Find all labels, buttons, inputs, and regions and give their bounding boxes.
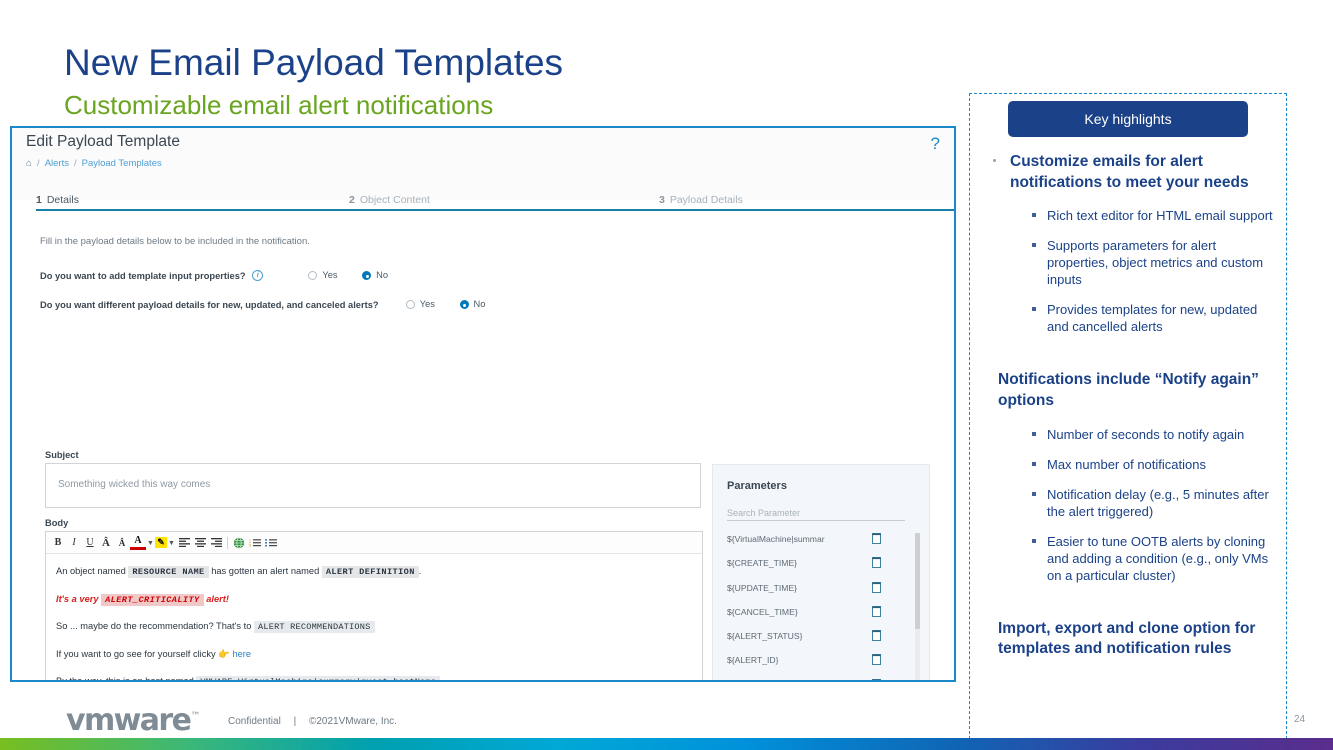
body-link-here[interactable]: here (232, 649, 251, 659)
parameter-row[interactable]: ${CANCEL_TIME} (713, 604, 929, 628)
wizard-step-details[interactable]: 1Details (36, 194, 79, 206)
breadcrumb-item-alerts[interactable]: Alerts (45, 158, 69, 169)
footer-divider: | (284, 716, 307, 727)
footer-confidential: Confidential (228, 716, 281, 727)
copy-icon[interactable] (872, 677, 881, 682)
parameter-row[interactable]: ${VirtualMachine|summar (713, 531, 929, 555)
copy-icon[interactable] (872, 555, 881, 573)
parameter-name: ${CREATE_TIME} (727, 558, 797, 568)
body-line-1-period: . (419, 566, 422, 576)
body-line-4-text-a: If you want to go see for yourself click… (56, 649, 216, 659)
parameter-row[interactable]: ${ALERT_DEFINITION} (713, 677, 929, 682)
body-line-2-text-a: It's a very (56, 594, 99, 604)
subject-input-value: Something wicked this way comes (58, 479, 210, 490)
decrease-font-size-icon[interactable]: Â (114, 534, 130, 551)
help-icon[interactable]: ? (931, 134, 940, 154)
radio-yes-1[interactable] (308, 271, 317, 280)
highlight-item-level-2: Easier to tune OOTB alerts by cloning an… (980, 533, 1280, 584)
body-editor[interactable]: B I U Â Â A ▼ ✎ ▼ (45, 531, 703, 682)
footer-copyright: ©2021VMware, Inc. (309, 716, 397, 727)
body-line-2-text-b: alert! (206, 594, 229, 604)
body-line-4: If you want to go see for yourself click… (56, 650, 692, 659)
ordered-list-icon[interactable]: 123 (247, 534, 263, 551)
question-different-payload-details: Do you want different payload details fo… (40, 299, 507, 310)
page-number: 24 (1294, 714, 1305, 725)
body-token-host-name: VMWARE VirtualMachine|summary|guest host… (196, 676, 440, 682)
parameter-name: ${CANCEL_TIME} (727, 607, 798, 617)
parameter-name: ${UPDATE_TIME} (727, 583, 797, 593)
unordered-list-icon[interactable] (263, 534, 279, 551)
breadcrumb-separator-2: / (74, 158, 77, 169)
question-1-option-no[interactable]: No (362, 270, 388, 280)
vmware-logo-text: vmware (66, 703, 190, 738)
vmware-logo: vmware™ (66, 703, 200, 738)
highlight-item-level-2: Supports parameters for alert properties… (980, 237, 1280, 288)
highlight-spacer (980, 597, 1280, 619)
question-2-label: Do you want different payload details fo… (40, 300, 379, 310)
body-token-resource-name: RESOURCE NAME (128, 566, 208, 578)
wizard-steps-divider (36, 209, 954, 211)
parameter-row[interactable]: ${CREATE_TIME} (713, 555, 929, 579)
radio-no-2[interactable] (460, 300, 469, 309)
body-line-2: It's a very ALERT_CRITICALITY alert! (56, 595, 692, 605)
key-highlights-list: Customize emails for alert notifications… (980, 152, 1280, 674)
app-header: Edit Payload Template ⌂ / Alerts / Paylo… (12, 128, 954, 200)
breadcrumb-separator-1: / (37, 158, 40, 169)
radio-no-1[interactable] (362, 271, 371, 280)
copy-icon[interactable] (872, 531, 881, 549)
underline-icon[interactable]: U (82, 534, 98, 551)
question-2-option-no[interactable]: No (460, 299, 486, 309)
question-1-option-yes[interactable]: Yes (308, 270, 337, 280)
wizard-step-payload-details[interactable]: 3Payload Details (659, 194, 743, 206)
page-subtitle: Customizable email alert notifications (64, 90, 493, 121)
key-highlights-button[interactable]: Key highlights (1008, 101, 1248, 137)
bullet-icon (1032, 307, 1036, 311)
question-1-label: Do you want to add template input proper… (40, 271, 246, 281)
highlight-item-text: Easier to tune OOTB alerts by cloning an… (1047, 534, 1268, 583)
highlight-item-level-2: Notification delay (e.g., 5 minutes afte… (980, 486, 1280, 520)
highlight-item-level-2: Max number of notifications (980, 456, 1280, 473)
body-token-alert-criticality: ALERT_CRITICALITY (101, 594, 203, 606)
highlight-item-text: Notifications include “Notify again” opt… (998, 371, 1259, 409)
highlight-item-text: Supports parameters for alert properties… (1047, 238, 1263, 287)
highlight-item-text: Provides templates for new, updated and … (1047, 302, 1257, 334)
align-right-icon[interactable] (208, 534, 224, 551)
info-icon[interactable]: i (252, 270, 263, 281)
question-1-option-yes-label: Yes (322, 270, 337, 280)
bullet-icon (1032, 492, 1036, 496)
radio-yes-2[interactable] (406, 300, 415, 309)
wizard-step-object-content-number: 2 (349, 194, 355, 206)
bullet-icon (1032, 462, 1036, 466)
body-editor-toolbar: B I U Â Â A ▼ ✎ ▼ (46, 532, 702, 554)
body-line-1-text-b: has gotten an alert named (211, 566, 319, 576)
body-line-1-text-a: An object named (56, 566, 126, 576)
highlight-item-level-2: Rich text editor for HTML email support (980, 207, 1280, 224)
highlight-item-level-2: Number of seconds to notify again (980, 426, 1280, 443)
toolbar-divider (227, 537, 228, 549)
body-line-3: So ... maybe do the recommendation? That… (56, 622, 692, 632)
bold-icon[interactable]: B (50, 534, 66, 551)
body-line-3-text-a: So ... maybe do the recommendation? That… (56, 621, 251, 631)
breadcrumb: ⌂ / Alerts / Payload Templates (26, 158, 162, 169)
bullet-icon (1032, 243, 1036, 247)
app-screenshot-panel: Edit Payload Template ⌂ / Alerts / Paylo… (10, 126, 956, 682)
highlight-item-level-1: Customize emails for alert notifications… (980, 152, 1280, 193)
question-2-option-yes-label: Yes (420, 299, 435, 309)
bullet-icon (1032, 539, 1036, 543)
parameter-row[interactable]: ${ALERT_ID} (713, 652, 929, 676)
question-2-option-no-label: No (474, 299, 486, 309)
highlight-item-text: Import, export and clone option for temp… (998, 620, 1255, 658)
bullet-icon (1032, 213, 1036, 217)
highlight-item-level-1: Import, export and clone option for temp… (980, 619, 1280, 660)
question-template-input-properties: Do you want to add template input proper… (40, 270, 410, 281)
body-token-alert-definition: ALERT DEFINITION (322, 566, 419, 578)
parameter-name: ${ALERT_ID} (727, 655, 778, 665)
highlight-spacer (980, 348, 1280, 370)
wizard-step-details-label: Details (47, 194, 79, 206)
increase-font-size-icon[interactable]: Â (98, 534, 114, 551)
highlight-item-level-2: Provides templates for new, updated and … (980, 301, 1280, 335)
parameters-scrollbar-thumb[interactable] (915, 533, 920, 629)
wizard-step-details-number: 1 (36, 194, 42, 206)
parameter-name: ${ALERT_STATUS} (727, 631, 802, 641)
slide-root: New Email Payload Templates Customizable… (0, 0, 1333, 750)
parameters-title: Parameters (727, 480, 787, 492)
pointing-hand-icon: 👉 (218, 649, 230, 659)
question-1-option-no-label: No (376, 270, 388, 280)
key-highlights-button-label: Key highlights (1084, 111, 1171, 127)
bottom-gradient-bar (0, 738, 1333, 750)
app-window-title: Edit Payload Template (26, 133, 180, 151)
align-center-icon[interactable] (192, 534, 208, 551)
parameter-search-placeholder: Search Parameter (727, 508, 800, 518)
breadcrumb-item-payload-templates[interactable]: Payload Templates (82, 158, 162, 169)
highlight-color-dropdown-icon[interactable]: ▼ (167, 534, 176, 551)
wizard-step-object-content-label: Object Content (360, 194, 430, 206)
insert-link-icon[interactable] (231, 534, 247, 551)
parameter-row[interactable]: ${ALERT_STATUS} (713, 628, 929, 652)
svg-text:3: 3 (249, 544, 251, 547)
parameters-panel: Parameters Search Parameter ${VirtualMac… (712, 464, 930, 682)
body-line-5-text-a: By the way, this is on host named (56, 676, 194, 682)
highlight-item-text: Number of seconds to notify again (1047, 427, 1244, 442)
highlight-item-text: Max number of notifications (1047, 457, 1206, 472)
copy-icon[interactable] (872, 652, 881, 670)
text-color-icon[interactable]: A (130, 535, 146, 550)
wizard-step-payload-details-number: 3 (659, 194, 665, 206)
question-2-option-yes[interactable]: Yes (406, 299, 435, 309)
highlight-color-icon[interactable]: ✎ (155, 537, 167, 548)
body-line-1: An object named RESOURCE NAME has gotten… (56, 567, 692, 577)
text-color-dropdown-icon[interactable]: ▼ (146, 534, 155, 551)
italic-icon[interactable]: I (66, 534, 82, 551)
bullet-icon (1032, 432, 1036, 436)
body-editor-content[interactable]: An object named RESOURCE NAME has gotten… (46, 554, 702, 682)
home-icon[interactable]: ⌂ (26, 158, 32, 169)
wizard-step-payload-details-label: Payload Details (670, 194, 743, 206)
copy-icon[interactable] (872, 580, 881, 598)
body-token-alert-recommendations: ALERT RECOMMENDATIONS (254, 621, 375, 633)
copy-icon[interactable] (872, 628, 881, 646)
vmware-logo-tm: ™ (190, 711, 200, 722)
page-title: New Email Payload Templates (64, 42, 563, 84)
highlight-item-text: Rich text editor for HTML email support (1047, 208, 1273, 223)
align-left-icon[interactable] (176, 534, 192, 551)
body-line-5: By the way, this is on host named VMWARE… (56, 677, 692, 682)
parameters-scrollbar[interactable] (915, 533, 920, 682)
wizard-step-object-content[interactable]: 2Object Content (349, 194, 430, 206)
subject-input[interactable]: Something wicked this way comes (45, 463, 701, 508)
parameter-name: ${ALERT_DEFINITION} (727, 680, 819, 682)
body-label: Body (45, 518, 68, 528)
parameter-name: ${VirtualMachine|summar (727, 534, 825, 544)
subject-label: Subject (45, 450, 79, 460)
highlight-item-text: Customize emails for alert notifications… (1010, 153, 1249, 191)
highlight-item-text: Notification delay (e.g., 5 minutes afte… (1047, 487, 1269, 519)
wizard-steps: 1Details 2Object Content 3Payload Detail… (36, 194, 954, 216)
copy-icon[interactable] (872, 604, 881, 622)
bullet-icon (993, 159, 996, 162)
parameter-row[interactable]: ${UPDATE_TIME} (713, 580, 929, 604)
footer-text: Confidential | ©2021VMware, Inc. (228, 716, 397, 727)
form-hint: Fill in the payload details below to be … (40, 236, 310, 247)
parameter-list: ${VirtualMachine|summar${CREATE_TIME}${U… (713, 531, 929, 682)
highlight-item-level-1: Notifications include “Notify again” opt… (980, 370, 1280, 411)
parameter-search-input[interactable]: Search Parameter (727, 503, 905, 521)
